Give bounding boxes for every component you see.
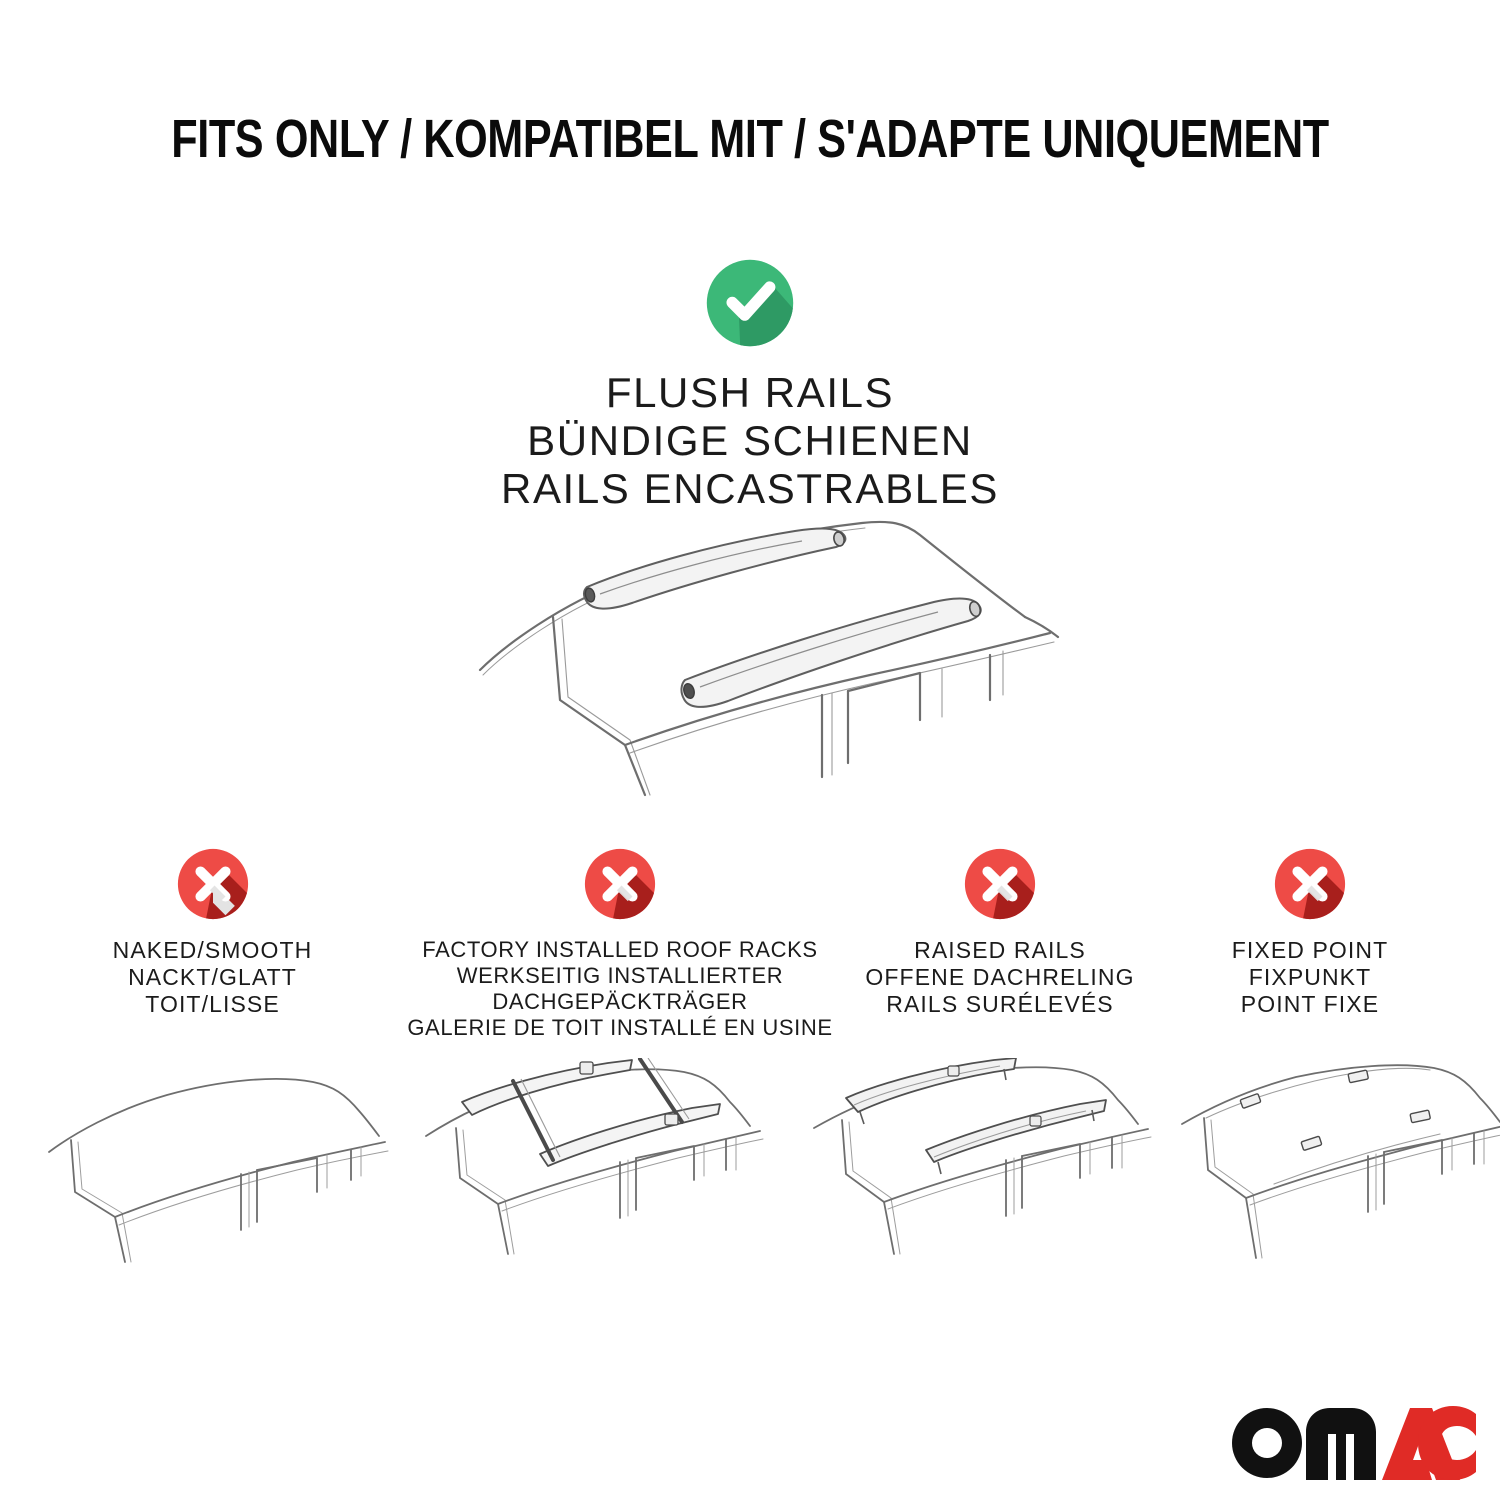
car-roof-flush-rails-drawing	[450, 495, 1070, 815]
label-de: OFFENE DACHRELING	[835, 964, 1165, 991]
x-circle-icon	[581, 845, 659, 923]
x-circle-icon	[961, 845, 1039, 923]
compatible-label-de: BÜNDIGE SCHIENEN	[0, 417, 1500, 465]
incompatible-column-raised-rails: RAISED RAILS OFFENE DACHRELING RAILS SUR…	[835, 845, 1165, 1018]
page-title: FITS ONLY / KOMPATIBEL MIT / S'ADAPTE UN…	[150, 108, 1350, 170]
label-fr: TOIT/LISSE	[40, 991, 385, 1018]
label-en: NAKED/SMOOTH	[40, 937, 385, 964]
incompatible-labels-raised-rails: RAISED RAILS OFFENE DACHRELING RAILS SUR…	[835, 937, 1165, 1018]
label-de-1: WERKSEITIG INSTALLIERTER	[400, 963, 840, 989]
label-de: FIXPUNKT	[1165, 964, 1455, 991]
car-roof-bare-drawing	[45, 1062, 390, 1277]
compatibility-infographic: FITS ONLY / KOMPATIBEL MIT / S'ADAPTE UN…	[0, 0, 1500, 1500]
compatible-label-en: FLUSH RAILS	[0, 369, 1500, 417]
compatible-labels: FLUSH RAILS BÜNDIGE SCHIENEN RAILS ENCAS…	[0, 369, 1500, 513]
incompatible-labels-naked-smooth: NAKED/SMOOTH NACKT/GLATT TOIT/LISSE	[40, 937, 385, 1018]
incompatible-column-naked-smooth: NAKED/SMOOTH NACKT/GLATT TOIT/LISSE	[40, 845, 385, 1018]
label-en: RAISED RAILS	[835, 937, 1165, 964]
label-en: FIXED POINT	[1165, 937, 1455, 964]
check-circle-icon	[702, 255, 798, 351]
label-fr: GALERIE DE TOIT INSTALLÉ EN USINE	[400, 1015, 840, 1041]
label-de: NACKT/GLATT	[40, 964, 385, 991]
logo-letter-o	[1232, 1408, 1302, 1478]
omac-logo	[1232, 1406, 1476, 1480]
logo-letter-m	[1306, 1408, 1376, 1480]
car-roof-fixed-point-drawing	[1178, 1062, 1500, 1277]
x-circle-icon	[1271, 845, 1349, 923]
label-en: FACTORY INSTALLED ROOF RACKS	[400, 937, 840, 963]
incompatible-column-factory-racks: FACTORY INSTALLED ROOF RACKS WERKSEITIG …	[400, 845, 840, 1041]
compatible-section: FLUSH RAILS BÜNDIGE SCHIENEN RAILS ENCAS…	[0, 255, 1500, 513]
label-de-2: DACHGEPÄCKTRÄGER	[400, 989, 840, 1015]
incompatible-column-fixed-point: FIXED POINT FIXPUNKT POINT FIXE	[1165, 845, 1455, 1018]
incompatible-labels-factory-racks: FACTORY INSTALLED ROOF RACKS WERKSEITIG …	[400, 937, 840, 1041]
label-fr: POINT FIXE	[1165, 991, 1455, 1018]
car-roof-factory-racks-drawing	[420, 1058, 765, 1273]
incompatible-labels-fixed-point: FIXED POINT FIXPUNKT POINT FIXE	[1165, 937, 1455, 1018]
label-fr: RAILS SURÉLEVÉS	[835, 991, 1165, 1018]
car-roof-raised-rails-drawing	[808, 1058, 1153, 1273]
x-circle-icon	[174, 845, 252, 923]
